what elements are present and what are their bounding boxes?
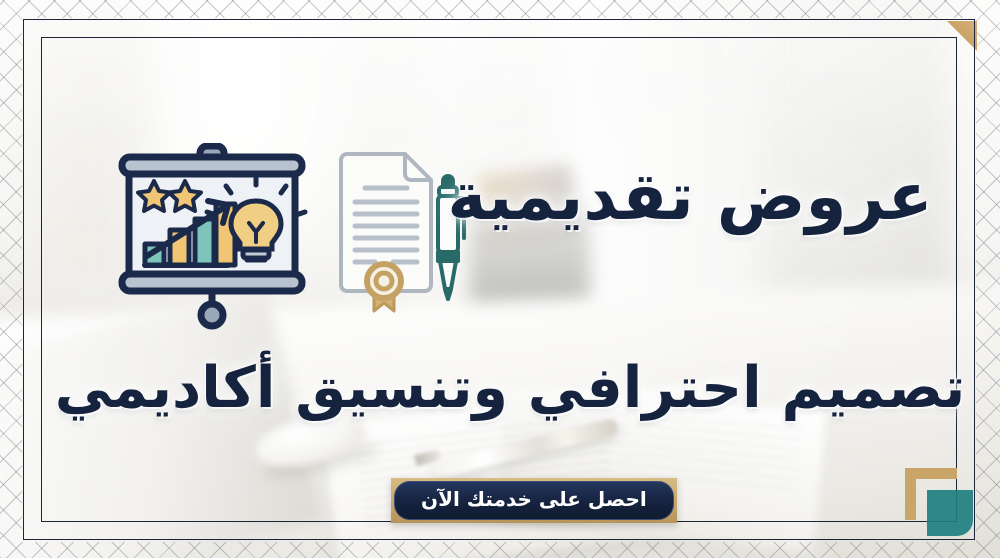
banner-content: عروض تقديمية تصميم احترافي وتنسيق أكاديم… bbox=[0, 0, 1000, 558]
presentation-board-icon bbox=[112, 143, 312, 337]
page-title: عروض تقديمية bbox=[455, 140, 925, 252]
page-subtitle: تصميم احترافي وتنسيق أكاديمي bbox=[70, 345, 950, 431]
cta-gold-frame: احصل على خدمتك الآن bbox=[391, 478, 677, 523]
cta-container: احصل على خدمتك الآن bbox=[391, 478, 677, 523]
get-service-button[interactable]: احصل على خدمتك الآن bbox=[394, 481, 674, 520]
promo-banner: عروض تقديمية تصميم احترافي وتنسيق أكاديم… bbox=[0, 0, 1000, 558]
